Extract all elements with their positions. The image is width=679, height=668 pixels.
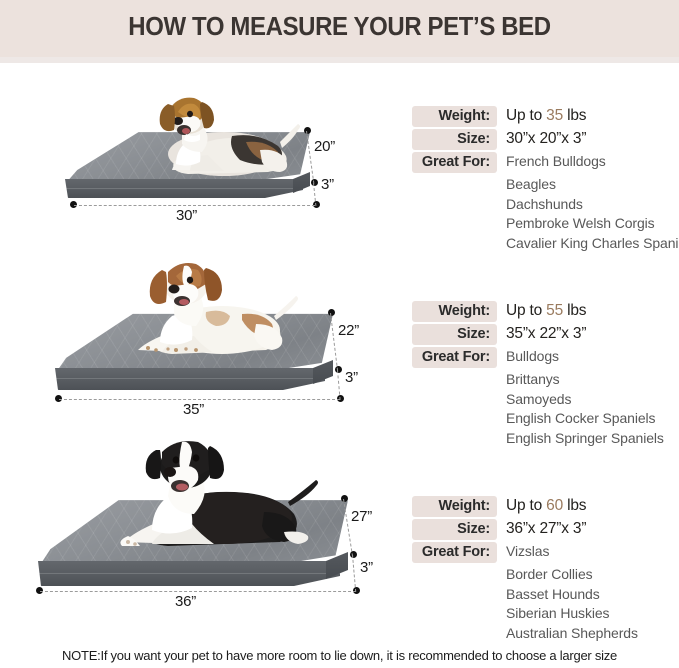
dim-label-height: 3” xyxy=(321,176,334,193)
breed-item: English Cocker Spaniels xyxy=(506,409,677,429)
label-great-for: Great For: xyxy=(412,542,497,563)
value-weight: Up to 55 lbs xyxy=(506,302,586,320)
label-great-for: Great For: xyxy=(412,347,497,368)
breed-item: Dachshunds xyxy=(506,195,677,215)
mattress-front-side xyxy=(55,368,325,390)
label-weight: Weight: xyxy=(412,106,497,127)
dim-label-length: 35” xyxy=(183,401,204,418)
value-weight: Up to 35 lbs xyxy=(506,107,586,125)
breed-list-small: Beagles Dachshunds Pembroke Welsh Corgis… xyxy=(506,175,677,253)
breed-item: Samoyeds xyxy=(506,390,677,410)
dim-label-width: 27” xyxy=(351,508,372,525)
breed-list-large: Border Collies Basset Hounds Siberian Hu… xyxy=(506,565,677,643)
info-row-great-for: Great For: Vizslas xyxy=(412,542,677,563)
value-size: 30”x 20”x 3” xyxy=(506,130,586,148)
breed-list-medium: Brittanys Samoyeds English Cocker Spanie… xyxy=(506,370,677,448)
value-weight: Up to 60 lbs xyxy=(506,497,586,515)
breed-item: Siberian Huskies xyxy=(506,604,677,624)
bed-illustration-large: 27” 3” 36” xyxy=(0,438,400,613)
breed-item: French Bulldogs xyxy=(506,153,606,169)
bed-illustration-medium: 22” 3” 35” xyxy=(0,258,400,413)
breed-item: Australian Shepherds xyxy=(506,624,677,644)
breed-item: Vizslas xyxy=(506,543,549,559)
footer-note: NOTE:If you want your pet to have more r… xyxy=(0,648,679,663)
label-great-for: Great For: xyxy=(412,152,497,173)
dim-label-width: 20” xyxy=(314,138,335,155)
breed-item: Brittanys xyxy=(506,370,677,390)
label-size: Size: xyxy=(412,129,497,150)
dim-line-length xyxy=(74,205,315,206)
info-row-weight: Weight: Up to 60 lbs xyxy=(412,496,677,517)
dog-border-collie xyxy=(98,438,328,560)
breed-item: Bulldogs xyxy=(506,348,559,364)
dim-label-length: 30” xyxy=(176,207,197,224)
infographic-page: HOW TO MEASURE YOUR PET’S BED xyxy=(0,0,679,668)
dim-line-length xyxy=(40,591,356,592)
info-row-size: Size: 36”x 27”x 3” xyxy=(412,519,677,540)
info-panel-small: Weight: Up to 35 lbs Size: 30”x 20”x 3” … xyxy=(412,106,677,253)
info-panel-medium: Weight: Up to 55 lbs Size: 35”x 22”x 3” … xyxy=(412,301,677,448)
info-panel-large: Weight: Up to 60 lbs Size: 36”x 27”x 3” … xyxy=(412,496,677,643)
value-size: 36”x 27”x 3” xyxy=(506,520,586,538)
bed-illustration-small: 20” 3” 30” xyxy=(0,90,400,215)
label-weight: Weight: xyxy=(412,301,497,322)
dim-line-length xyxy=(59,399,340,400)
dog-brittany xyxy=(110,258,310,366)
dim-line-height xyxy=(352,555,356,592)
info-row-great-for: Great For: Bulldogs xyxy=(412,347,677,368)
label-size: Size: xyxy=(412,519,497,540)
info-row-size: Size: 35”x 22”x 3” xyxy=(412,324,677,345)
page-title: HOW TO MEASURE YOUR PET’S BED xyxy=(20,13,658,42)
label-size: Size: xyxy=(412,324,497,345)
info-row-weight: Weight: Up to 55 lbs xyxy=(412,301,677,322)
breed-item: Cavalier King Charles Spaniels xyxy=(506,234,677,254)
dim-label-height: 3” xyxy=(360,559,373,576)
info-row-weight: Weight: Up to 35 lbs xyxy=(412,106,677,127)
breed-item: Beagles xyxy=(506,175,677,195)
breed-item: Pembroke Welsh Corgis xyxy=(506,214,677,234)
dim-label-width: 22” xyxy=(338,322,359,339)
dog-beagle xyxy=(128,90,303,185)
header-band-accent xyxy=(0,57,679,63)
value-size: 35”x 22”x 3” xyxy=(506,325,586,343)
mattress-front-side xyxy=(38,561,340,586)
breed-item: Border Collies xyxy=(506,565,677,585)
breed-item: Basset Hounds xyxy=(506,585,677,605)
dim-label-height: 3” xyxy=(345,369,358,386)
label-weight: Weight: xyxy=(412,496,497,517)
dim-label-length: 36” xyxy=(175,593,196,610)
breed-item: English Springer Spaniels xyxy=(506,429,677,449)
info-row-great-for: Great For: French Bulldogs xyxy=(412,152,677,173)
info-row-size: Size: 30”x 20”x 3” xyxy=(412,129,677,150)
